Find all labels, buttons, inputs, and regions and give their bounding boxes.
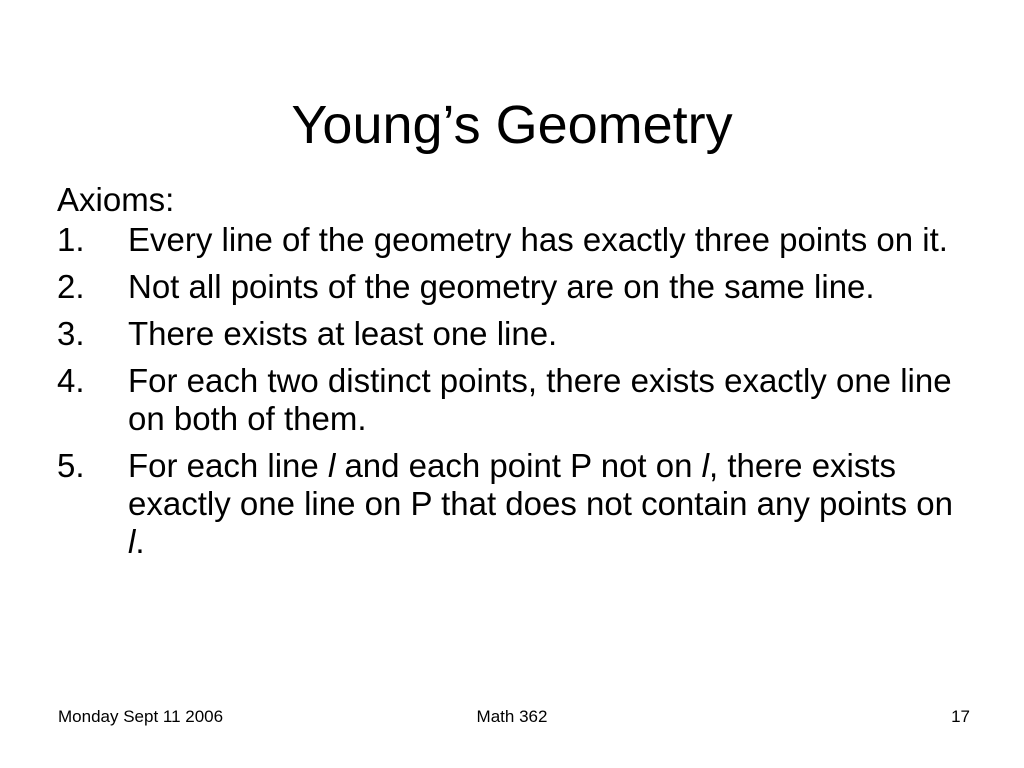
axioms-heading: Axioms: xyxy=(57,180,967,220)
axiom-item: 5.For each line l and each point P not o… xyxy=(57,447,967,561)
axiom-number: 5. xyxy=(57,447,109,485)
axiom-item: 2.Not all points of the geometry are on … xyxy=(57,268,967,306)
axiom-text: There exists at least one line. xyxy=(128,315,967,353)
slide: Young’s Geometry Axioms: 1.Every line of… xyxy=(0,0,1024,768)
axiom-number: 3. xyxy=(57,315,109,353)
axiom-text: For each line l and each point P not on … xyxy=(128,447,967,561)
line-variable: l xyxy=(702,447,709,484)
axiom-number: 2. xyxy=(57,268,109,306)
axiom-text-run: For each line xyxy=(128,447,328,484)
axiom-text-run: For each two distinct points, there exis… xyxy=(128,362,952,437)
axiom-text: Every line of the geometry has exactly t… xyxy=(128,221,967,259)
footer-page-number: 17 xyxy=(951,705,970,729)
axiom-item: 1.Every line of the geometry has exactly… xyxy=(57,221,967,259)
slide-body: Axioms: 1.Every line of the geometry has… xyxy=(57,180,967,561)
axiom-item: 3.There exists at least one line. xyxy=(57,315,967,353)
axiom-text-run: Every line of the geometry has exactly t… xyxy=(128,221,948,258)
axiom-text-run: and each point P not on xyxy=(335,447,701,484)
axiom-number: 1. xyxy=(57,221,109,259)
axiom-item: 4.For each two distinct points, there ex… xyxy=(57,362,967,438)
axiom-text: For each two distinct points, there exis… xyxy=(128,362,967,438)
axiom-text-run: Not all points of the geometry are on th… xyxy=(128,268,875,305)
axiom-text-run: There exists at least one line. xyxy=(128,315,557,352)
axiom-text-run: . xyxy=(135,523,144,560)
axiom-text: Not all points of the geometry are on th… xyxy=(128,268,967,306)
axiom-number: 4. xyxy=(57,362,109,400)
axiom-list: 1.Every line of the geometry has exactly… xyxy=(57,221,967,561)
footer-course: Math 362 xyxy=(0,705,1024,729)
slide-footer: Monday Sept 11 2006 Math 362 17 xyxy=(0,705,1024,729)
page-title: Young’s Geometry xyxy=(0,94,1024,156)
